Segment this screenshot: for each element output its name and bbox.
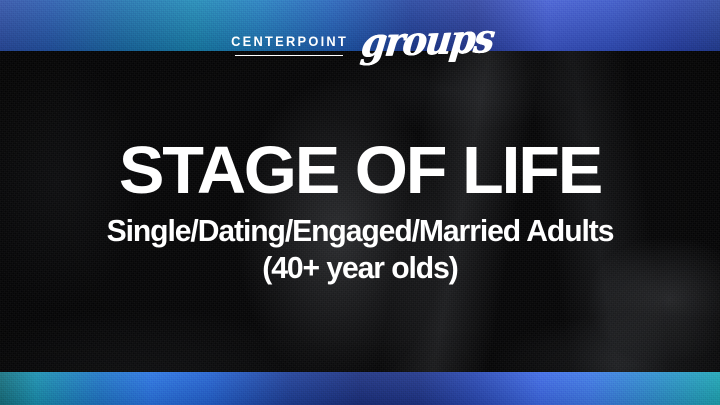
brand-script-text: groups	[359, 21, 495, 62]
slide-copy-block: STAGE OF LIFE Single/Dating/Engaged/Marr…	[0, 138, 720, 286]
slide-subtitle-line-2: (40+ year olds)	[11, 250, 709, 286]
slide-subtitle-line-1: Single/Dating/Engaged/Married Adults	[11, 213, 709, 249]
centerpoint-groups-logo: CENTERPOINT groups	[0, 31, 720, 57]
logo-underline-rule	[235, 55, 343, 57]
brand-name-text: CENTERPOINT	[231, 35, 348, 49]
bottom-band-grain	[0, 372, 720, 405]
logo-wordmark: CENTERPOINT	[228, 31, 351, 56]
bottom-gradient-band	[0, 372, 720, 405]
promo-slide: CENTERPOINT groups STAGE OF LIFE Single/…	[0, 0, 720, 405]
slide-title: STAGE OF LIFE	[0, 138, 720, 204]
